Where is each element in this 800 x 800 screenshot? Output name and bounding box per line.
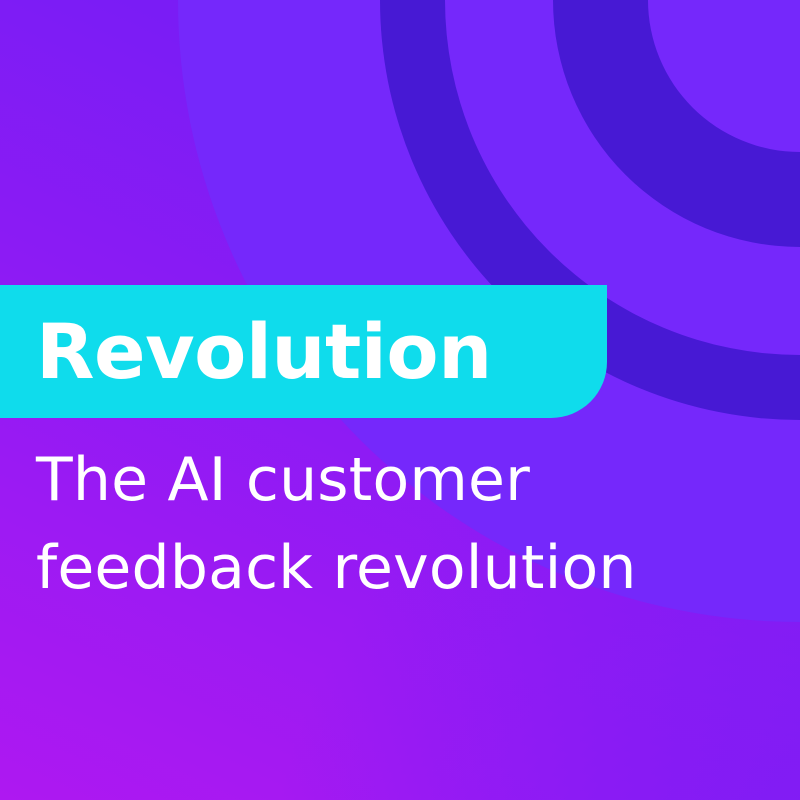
subtitle-line-2: feedback revolution [36, 524, 696, 612]
banner-title: Revolution [36, 314, 492, 390]
promo-card: Revolution The AI customer feedback revo… [0, 0, 800, 800]
subtitle-line-1: The AI customer [36, 436, 696, 524]
title-banner: Revolution [0, 285, 607, 418]
subtitle-block: The AI customer feedback revolution [36, 436, 696, 612]
